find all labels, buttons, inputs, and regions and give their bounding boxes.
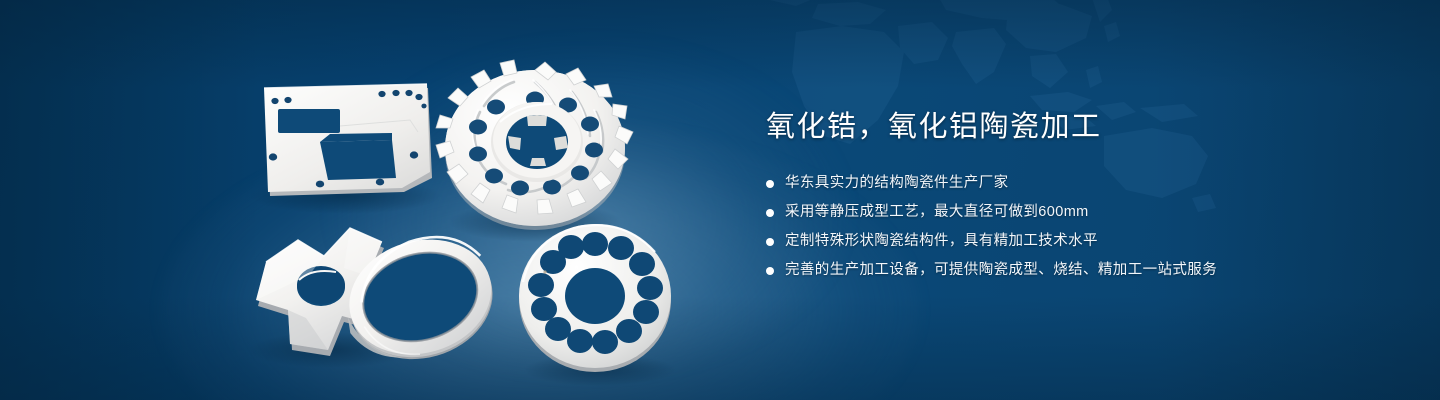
bullet-dot-icon	[766, 238, 774, 246]
feature-list: 华东具实力的结构陶瓷件生产厂家 采用等静压成型工艺，最大直径可做到600mm 定…	[766, 172, 1217, 282]
feature-text: 完善的生产加工设备，可提供陶瓷成型、烧结、精加工一站式服务	[785, 259, 1217, 282]
ceramic-perforated-disc	[519, 224, 671, 372]
banner-title: 氧化锆，氧化铝陶瓷加工	[766, 108, 1217, 146]
ceramic-plate	[264, 84, 432, 196]
feature-text: 华东具实力的结构陶瓷件生产厂家	[785, 172, 1009, 195]
banner-text-block: 氧化锆，氧化铝陶瓷加工 华东具实力的结构陶瓷件生产厂家 采用等静压成型工艺，最大…	[766, 108, 1217, 288]
feature-text: 采用等静压成型工艺，最大直径可做到600mm	[785, 201, 1089, 224]
promo-banner: 氧化锆，氧化铝陶瓷加工 华东具实力的结构陶瓷件生产厂家 采用等静压成型工艺，最大…	[0, 0, 1440, 400]
ceramic-impeller	[436, 60, 633, 230]
bullet-dot-icon	[766, 180, 774, 188]
feature-list-item: 采用等静压成型工艺，最大直径可做到600mm	[766, 201, 1217, 224]
feature-text: 定制特殊形状陶瓷结构件，具有精加工技术水平	[785, 230, 1098, 253]
feature-list-item: 完善的生产加工设备，可提供陶瓷成型、烧结、精加工一站式服务	[766, 259, 1217, 282]
ceramic-products-photo	[0, 0, 740, 400]
feature-list-item: 定制特殊形状陶瓷结构件，具有精加工技术水平	[766, 230, 1217, 253]
feature-list-item: 华东具实力的结构陶瓷件生产厂家	[766, 172, 1217, 195]
bullet-dot-icon	[766, 267, 774, 275]
bullet-dot-icon	[766, 209, 774, 217]
